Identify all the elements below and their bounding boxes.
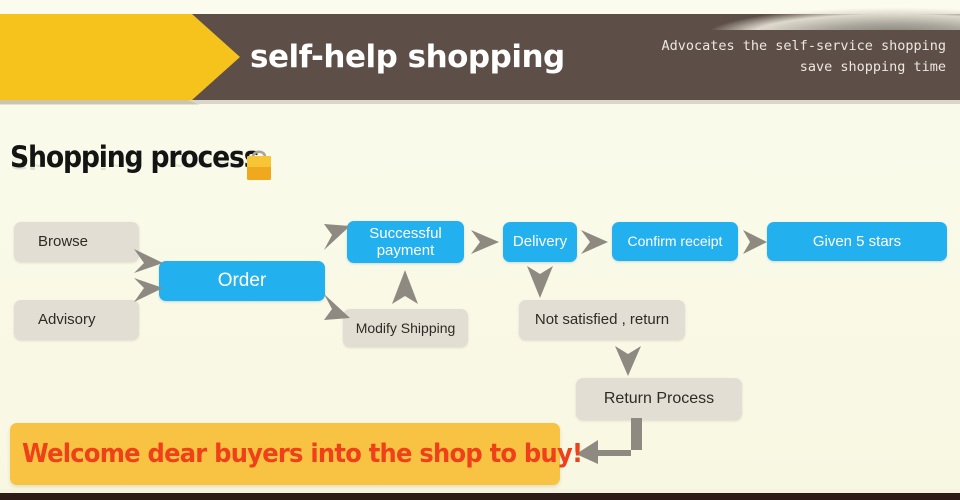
arrow-modify-shipping-to-successful-payment [390, 268, 420, 308]
flow-node-modify-shipping-label: Modify Shipping [356, 320, 456, 336]
section-title-reflection: Shopping process [10, 154, 258, 173]
flow-node-order[interactable]: Order [159, 261, 325, 301]
flow-node-not-satisfied-return-label: Not satisfied , return [535, 311, 669, 328]
arrow-order-to-modify-shipping [322, 292, 354, 322]
arrow-confirm-receipt-to-given-5-stars [742, 228, 768, 256]
header-banner: self-help shopping Advocates the self-se… [0, 14, 960, 100]
arrow-browse-to-order [133, 247, 167, 275]
flow-node-advisory-label: Advisory [38, 311, 96, 328]
flow-node-delivery-label: Delivery [513, 233, 567, 250]
flow-node-confirm-receipt[interactable]: Confirm receipt [612, 222, 738, 261]
flow-node-delivery[interactable]: Delivery [503, 222, 577, 262]
flow-node-browse-label: Browse [38, 233, 88, 250]
header-tagline: Advocates the self-service shopping save… [662, 36, 946, 78]
arrow-advisory-to-order [133, 276, 167, 304]
arrow-successful-payment-to-delivery [470, 228, 502, 256]
header-yellow-chevron [0, 14, 240, 100]
flow-node-advisory[interactable]: Advisory [14, 300, 139, 340]
flow-node-given-5-stars[interactable]: Given 5 stars [767, 222, 947, 261]
flow-node-given-5-stars-label: Given 5 stars [813, 233, 901, 250]
flow-node-confirm-receipt-label: Confirm receipt [628, 233, 723, 249]
section-heading: Shopping process Shopping process [10, 140, 280, 190]
arrow-not-satisfied-to-return-process [613, 344, 643, 378]
shopping-bag-icon [242, 144, 276, 184]
arrow-delivery-to-confirm-receipt [580, 228, 610, 256]
page-title: self-help shopping [250, 39, 565, 75]
flow-node-return-process[interactable]: Return Process [576, 378, 742, 420]
flow-node-modify-shipping[interactable]: Modify Shipping [343, 309, 468, 347]
welcome-banner[interactable]: Welcome dear buyers into the shop to buy… [10, 423, 560, 485]
header-chevron-shadow [0, 100, 215, 105]
flow-node-successful-payment[interactable]: Successful payment [347, 221, 464, 263]
welcome-banner-text: Welcome dear buyers into the shop to buy… [22, 439, 582, 469]
bottom-strip [0, 493, 960, 500]
tagline-line-1: Advocates the self-service shopping [662, 36, 946, 57]
flow-node-successful-payment-label-line1: Successful [369, 225, 442, 242]
arrow-delivery-to-not-satisfied [525, 264, 555, 300]
flow-node-successful-payment-label-line2: payment [377, 242, 435, 259]
flow-node-browse[interactable]: Browse [14, 222, 139, 262]
flow-node-return-process-label: Return Process [604, 390, 714, 408]
page-root: self-help shopping Advocates the self-se… [0, 0, 960, 500]
flow-node-not-satisfied-return[interactable]: Not satisfied , return [519, 300, 685, 340]
flow-node-order-label: Order [218, 270, 267, 292]
arrow-order-to-successful-payment [322, 222, 354, 252]
tagline-line-2: save shopping time [662, 57, 946, 78]
